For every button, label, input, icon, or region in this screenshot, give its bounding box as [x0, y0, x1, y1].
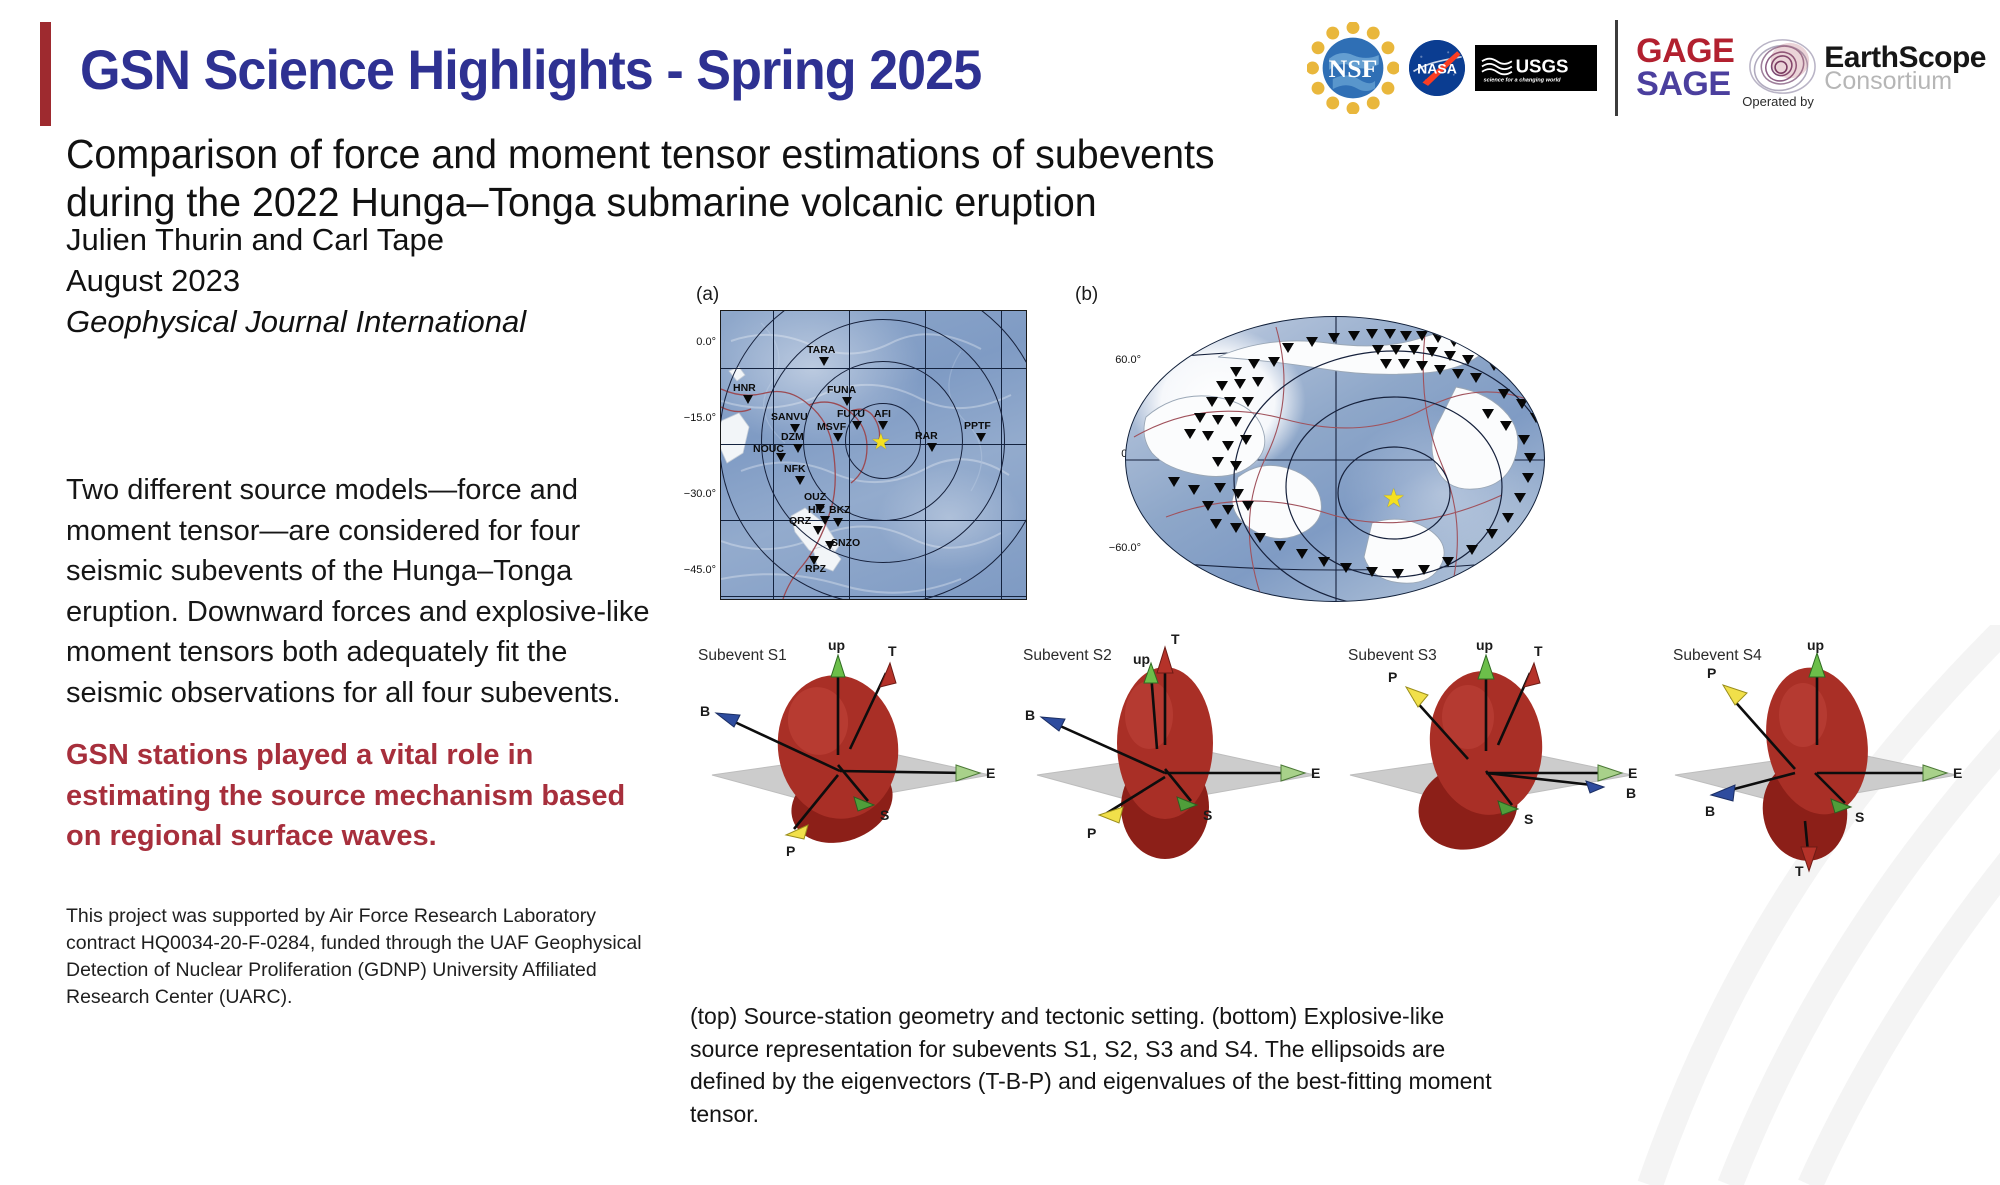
- map-lat-label-0: 0.0°: [668, 336, 716, 348]
- gage-label: GAGE: [1636, 35, 1734, 68]
- axis-label-p-s4: P: [1707, 665, 1716, 681]
- paper-journal: Geophysical Journal International: [66, 304, 526, 340]
- subevent-panel-s1: Subevent S1: [690, 625, 1015, 875]
- map-lat-label-45: −45.0°: [662, 564, 716, 576]
- axis-label-p-s3: P: [1388, 669, 1397, 685]
- station-label-NFK: NFK: [784, 463, 806, 475]
- station-label-FUTU: FUTU: [837, 408, 865, 420]
- axis-label-up-s3: up: [1476, 637, 1493, 653]
- funding-acknowledgement: This project was supported by Air Force …: [66, 903, 651, 1011]
- slide-header: GSN Science Highlights - Spring 2025 NSF: [0, 0, 2000, 132]
- map-lat-label-15: −15.0°: [662, 412, 716, 424]
- page-title: GSN Science Highlights - Spring 2025: [80, 37, 981, 102]
- earthscope-logo: EarthScope Consortium Operated by: [1744, 31, 1986, 105]
- epicentre-star-icon: ★: [871, 431, 891, 453]
- station-label-RAR: RAR: [915, 430, 938, 442]
- svg-text:NASA: NASA: [1417, 61, 1457, 77]
- subevent-row: Subevent S1: [690, 625, 1990, 875]
- global-station-map: 60.0° 0.0° −60.0°: [1085, 308, 1565, 608]
- station-label-FUNA: FUNA: [827, 384, 856, 396]
- axis-label-t-s2: T: [1171, 631, 1180, 647]
- axis-label-e-s1: E: [986, 765, 995, 781]
- regional-station-map: TARA HNR FUNA SANVU FUTU AFI MSVF DZM NO…: [720, 310, 1027, 600]
- axis-label-s-s4: S: [1855, 809, 1864, 825]
- svg-text:USGS: USGS: [1516, 55, 1569, 76]
- station-label-QRZ: QRZ: [789, 515, 811, 527]
- sage-label: SAGE: [1636, 68, 1734, 101]
- axis-label-up-s2: up: [1133, 651, 1150, 667]
- paper-abstract: Two different source models—force and mo…: [66, 470, 666, 714]
- station-label-MSVF: MSVF: [817, 421, 846, 433]
- nasa-logo: NASA: [1409, 40, 1465, 96]
- gage-sage-logo: GAGE SAGE: [1636, 35, 1734, 102]
- paper-authors: Julien Thurin and Carl Tape: [66, 222, 444, 258]
- svg-text:science for a changing world: science for a changing world: [1484, 77, 1562, 83]
- globe-epicentre-star-icon: ★: [1382, 485, 1405, 511]
- station-label-OUZ: OUZ: [804, 491, 826, 503]
- panel-b-label: (b): [1075, 284, 1098, 306]
- gsn-highlight-text: GSN stations played a vital role in esti…: [66, 735, 666, 857]
- station-label-TARA: TARA: [807, 344, 835, 356]
- axis-label-t-s1: T: [888, 643, 897, 659]
- axis-label-s-s2: S: [1203, 807, 1212, 823]
- station-label-HNR: HNR: [733, 382, 756, 394]
- subevent-panel-s4: Subevent S4: [1665, 625, 1990, 875]
- axis-label-s-s3: S: [1524, 811, 1533, 827]
- station-label-RPZ: RPZ: [805, 563, 826, 575]
- axis-label-b-s2: B: [1025, 707, 1035, 723]
- logo-strip: NSF NASA: [1307, 16, 1986, 120]
- svg-text:NSF: NSF: [1329, 54, 1378, 83]
- axis-label-e-s2: E: [1311, 765, 1320, 781]
- operated-by-label: Operated by: [1742, 94, 1814, 109]
- station-label-BKZ: BKZ: [829, 504, 851, 516]
- axis-label-p-s2: P: [1087, 825, 1096, 841]
- axis-label-t-s3: T: [1534, 643, 1543, 659]
- axis-label-b-s4: B: [1705, 803, 1715, 819]
- axis-label-t-s4: T: [1795, 863, 1804, 879]
- globe-ellipse: ★: [1125, 316, 1545, 602]
- panel-a-label: (a): [696, 284, 719, 306]
- paper-date: August 2023: [66, 263, 240, 299]
- logo-divider: [1615, 20, 1618, 116]
- station-label-SANVU: SANVU: [771, 411, 808, 423]
- axis-label-e-s3: E: [1628, 765, 1637, 781]
- header-accent-bar: [40, 22, 51, 126]
- axis-label-b-s1: B: [700, 703, 710, 719]
- earthscope-wordmark: EarthScope Consortium: [1824, 43, 1986, 94]
- usgs-logo: USGS science for a changing world: [1475, 45, 1597, 91]
- axis-label-p-s1: P: [786, 843, 795, 859]
- figure-block: (a) (b) 0.0° −15.0° −30.0° −45.0°: [690, 280, 1990, 1100]
- station-label-AFI: AFI: [874, 408, 891, 420]
- subevent-panel-s3: Subevent S3: [1340, 625, 1665, 875]
- station-label-NOUC: NOUC: [753, 443, 784, 455]
- axis-label-e-s4: E: [1953, 765, 1962, 781]
- station-label-SNZO: SNZO: [831, 537, 860, 549]
- axis-label-up-s4: up: [1807, 637, 1824, 653]
- nsf-logo: NSF: [1307, 22, 1399, 114]
- figure-caption: (top) Source-station geometry and tecton…: [690, 1000, 1500, 1131]
- axis-label-s-s1: S: [880, 807, 889, 823]
- subevent-panel-s2: Subevent S2: [1015, 625, 1340, 875]
- paper-title: Comparison of force and moment tensor es…: [66, 130, 1256, 227]
- station-label-PPTF: PPTF: [964, 420, 991, 432]
- axis-label-b-s3: B: [1626, 785, 1636, 801]
- station-label-DZM: DZM: [781, 431, 804, 443]
- map-lat-label-30: −30.0°: [662, 488, 716, 500]
- axis-label-up-s1: up: [828, 637, 845, 653]
